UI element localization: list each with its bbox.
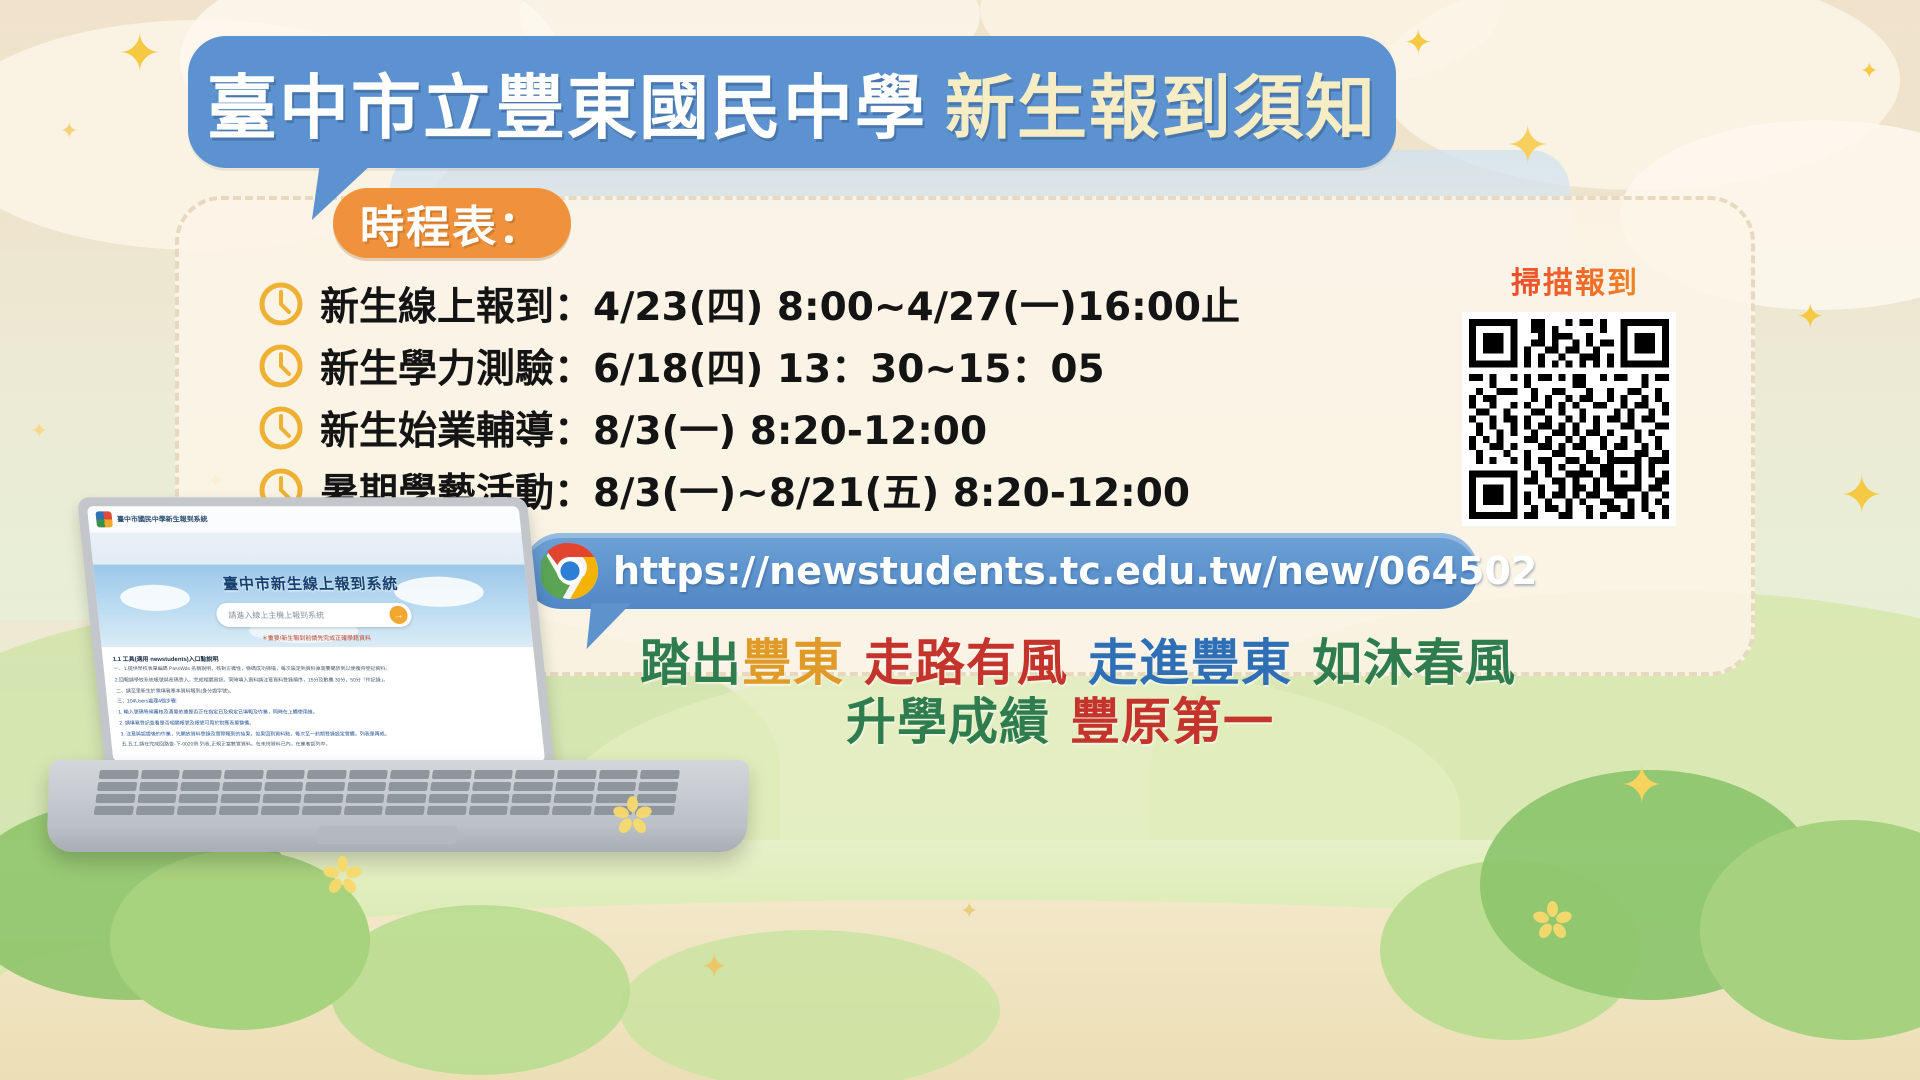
site-body-paragraph: 五.五工.請在完成回路查-下-0020例 列表,正規正當數實資料。在未持資料已內… [121, 742, 534, 750]
sparkle-icon: ✦ [1506, 120, 1550, 172]
site-header: 臺中市國民中學新生報到系統 [87, 506, 521, 532]
sparkle-icon: ✦ [960, 900, 978, 922]
poster-canvas: ✦ ✦ ✦ ✦ ✦ ✦ ✦ ✦ ✦ ✦ ✦ ✦ ✦ 臺中市立豐東國民中學 新生報… [0, 0, 1920, 1080]
schedule-row-text: 新生學力測驗：6/18(四) 13：30~15：05 [320, 338, 1105, 394]
site-body-paragraph: 1. 輸入號碼等候審核及清單依據是否正在指定日及規定日填報及作業，同時在上體使用… [118, 709, 531, 717]
site-body-paragraph: 二、請至里新生於需填寫基本資料報到(身分證字號)。 [116, 688, 529, 696]
sparkle-icon: ✦ [1840, 470, 1884, 522]
sparkle-icon: ✦ [118, 28, 162, 80]
title-banner: 臺中市立豐東國民中學 新生報到須知 [188, 36, 1396, 168]
site-body-paragraph: 3. 注意與認證後的作業，先開放資料登錄及實際報到的結果，如果回到資料點，每次至… [120, 731, 533, 739]
sparkle-icon: ✦ [30, 420, 48, 442]
sparkle-icon: ✦ [700, 950, 729, 984]
search-submit-icon[interactable]: → [389, 606, 409, 624]
slogan-part: 豐東 [742, 634, 844, 692]
schedule-row: 新生線上報到：4/23(四) 8:00~4/27(一)16:00止 [258, 276, 1208, 331]
site-note: ＊重要!新生報到前請先完成正確學籍資料 [261, 633, 371, 642]
slogan-line-2: 升學成績豐原第一 [640, 693, 1480, 752]
slogan-block: 踏出豐東走路有風走進豐東如沐春風 升學成績豐原第一 [640, 634, 1480, 752]
qr-section: 掃描報到 [1462, 258, 1688, 526]
site-body: 1.1 工具(適用 newstudents)入口點說明 一、1.提供學校表單編碼… [102, 647, 546, 762]
clock-icon [258, 281, 304, 327]
site-name: 臺中市國民中學新生報到系統 [117, 514, 209, 524]
site-body-heading: 1.1 工具(適用 newstudents)入口點說明 [112, 654, 525, 663]
sparkle-icon: ✦ [1404, 26, 1433, 60]
site-body-paragraph: 一、1.提供學校表單編碼 PassWds 名稱說明，核對正確性，條碼成功掃描，每… [113, 666, 526, 674]
laptop-lid: 臺中市國民中學新生報到系統 臺中市新生線上報到系統 請進入線上主機上報到系統 →… [77, 497, 555, 770]
schedule-row: 新生始業輔導：8/3(一) 8:20-12:00 [258, 400, 1208, 455]
schedule-row-text: 新生線上報到：4/23(四) 8:00~4/27(一)16:00止 [320, 276, 1240, 332]
laptop-keyboard [93, 770, 680, 822]
flower-icon [330, 860, 356, 886]
sparkle-icon: ✦ [60, 120, 78, 142]
school-logo-icon [95, 511, 113, 527]
slogan-part: 走路有風 [864, 634, 1068, 692]
site-body-paragraph: 2.回報請學校系統帳號與密碼登入，完成相關資訊，同時填入資料請注意資料登錄順序，… [115, 677, 528, 685]
clock-icon [258, 405, 304, 451]
sparkle-icon: ✦ [1796, 300, 1825, 334]
schedule-section-label: 時程表： [333, 188, 571, 258]
bush-shape [620, 930, 1000, 1080]
sparkle-icon: ✦ [1860, 60, 1878, 82]
flower-icon [1540, 905, 1566, 931]
page-title-school: 臺中市立豐東國民中學 [207, 52, 927, 153]
qr-label: 掃描報到 [1462, 258, 1688, 302]
slogan-part: 豐東 [1190, 634, 1292, 692]
site-body-paragraph: 三、104Users處理4個步驟: [117, 699, 530, 707]
laptop-trackpad [316, 826, 459, 844]
slogan-part: 走進 [1088, 634, 1190, 692]
schedule-row: 新生學力測驗：6/18(四) 13：30~15：05 [258, 338, 1208, 393]
bush-shape [330, 905, 630, 1075]
sparkle-icon: ✦ [1620, 760, 1664, 812]
site-search-box[interactable]: 請進入線上主機上報到系統 → [215, 603, 412, 627]
clock-icon [258, 343, 304, 389]
schedule-section-label-text: 時程表： [360, 191, 544, 255]
qr-code-icon[interactable] [1462, 312, 1676, 526]
slogan-line-1: 踏出豐東走路有風走進豐東如沐春風 [640, 634, 1480, 693]
flower-icon [620, 800, 646, 826]
schedule-list: 新生線上報到：4/23(四) 8:00~4/27(一)16:00止 新生學力測驗… [258, 276, 1208, 524]
slogan-part: 豐原第一 [1070, 693, 1274, 751]
site-title: 臺中市新生線上報到系統 [94, 573, 528, 594]
laptop-screen: 臺中市國民中學新生報到系統 臺中市新生線上報到系統 請進入線上主機上報到系統 →… [87, 506, 545, 761]
slogan-part: 如沐春風 [1312, 634, 1516, 692]
slogan-part: 升學成績 [846, 693, 1050, 751]
page-title-subject: 新生報到須知 [945, 52, 1377, 153]
url-text: https://newstudents.tc.edu.tw/new/064502 [613, 549, 1537, 593]
site-body-paragraph: 2. 請填寫登記查看是否相關帳號及帳號可用於對應表單整備。 [119, 720, 532, 728]
search-placeholder: 請進入線上主機上報到系統 [228, 609, 390, 620]
schedule-row-text: 新生始業輔導：8/3(一) 8:20-12:00 [320, 400, 987, 456]
